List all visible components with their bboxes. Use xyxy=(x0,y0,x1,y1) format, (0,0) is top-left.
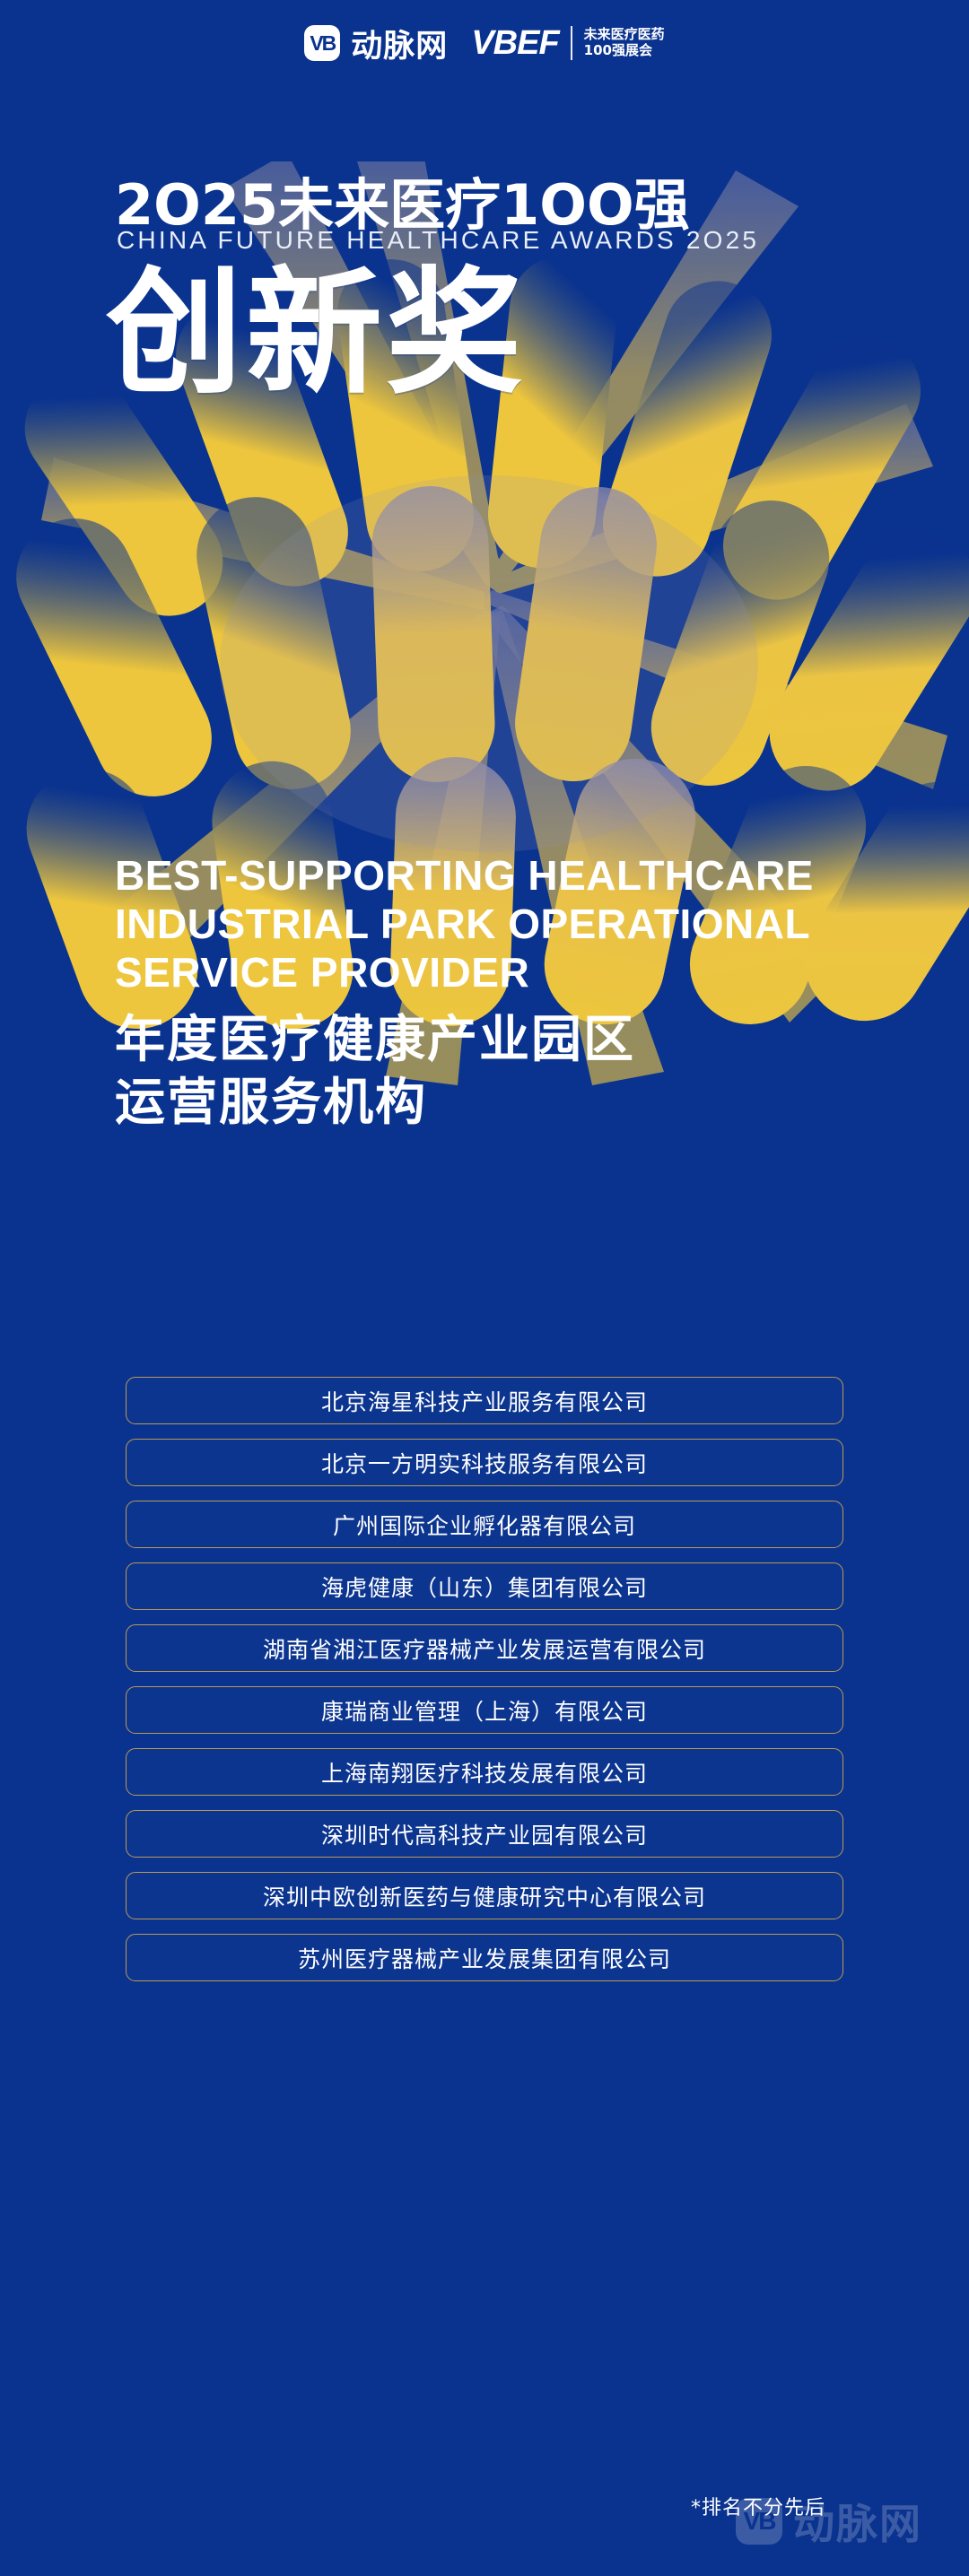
winner-card: 海虎健康（山东）集团有限公司 xyxy=(126,1562,843,1610)
header-divider xyxy=(571,26,572,60)
brand-vbef[interactable]: VBEF 未来医疗医药 100强展会 xyxy=(471,24,664,63)
winner-card: 深圳中欧创新医药与健康研究中心有限公司 xyxy=(126,1872,843,1919)
winner-card: 深圳时代高科技产业园有限公司 xyxy=(126,1810,843,1858)
vbef-subtitle-line1: 未来医疗医药 xyxy=(584,26,665,42)
winner-card: 上海南翔医疗科技发展有限公司 xyxy=(126,1748,843,1796)
vbef-subtitle: 未来医疗医药 100强展会 xyxy=(584,27,665,58)
winner-card: 康瑞商业管理（上海）有限公司 xyxy=(126,1686,843,1734)
page-header: VB 动脉网 VBEF 未来医疗医药 100强展会 xyxy=(0,0,969,86)
award-name-chinese-line1: 年度医疗健康产业园区 xyxy=(115,1009,904,1071)
award-name-english: BEST-SUPPORTING HEALTHCARE INDUSTRIAL PA… xyxy=(115,852,904,996)
award-english-subtitle: CHINA FUTURE HEALTHCARE AWARDS 2O25 xyxy=(117,226,759,255)
award-headline: 创新奖 xyxy=(106,265,526,402)
winner-card: 苏州医疗器械产业发展集团有限公司 xyxy=(126,1934,843,1981)
vbef-wordmark: VBEF xyxy=(471,24,558,63)
award-name-chinese-line2: 运营服务机构 xyxy=(115,1072,904,1134)
winner-list: 北京海星科技产业服务有限公司北京一方明实科技服务有限公司广州国际企业孵化器有限公… xyxy=(126,1377,843,1981)
winner-card: 湖南省湘江医疗器械产业发展运营有限公司 xyxy=(126,1624,843,1672)
award-name-chinese: 年度医疗健康产业园区 运营服务机构 xyxy=(115,1009,904,1134)
vb-logo-icon: VB xyxy=(304,25,340,61)
winner-card: 北京一方明实科技服务有限公司 xyxy=(126,1439,843,1486)
brand-dongmaiwang[interactable]: VB 动脉网 xyxy=(304,21,448,66)
winner-card: 北京海星科技产业服务有限公司 xyxy=(126,1377,843,1424)
brand-name-cn: 动脉网 xyxy=(351,21,448,66)
award-name-block: BEST-SUPPORTING HEALTHCARE INDUSTRIAL PA… xyxy=(115,852,904,1134)
ranking-note: *排名不分先后 xyxy=(691,2492,825,2520)
vbef-subtitle-line2: 100强展会 xyxy=(584,42,652,58)
winner-card: 广州国际企业孵化器有限公司 xyxy=(126,1501,843,1548)
